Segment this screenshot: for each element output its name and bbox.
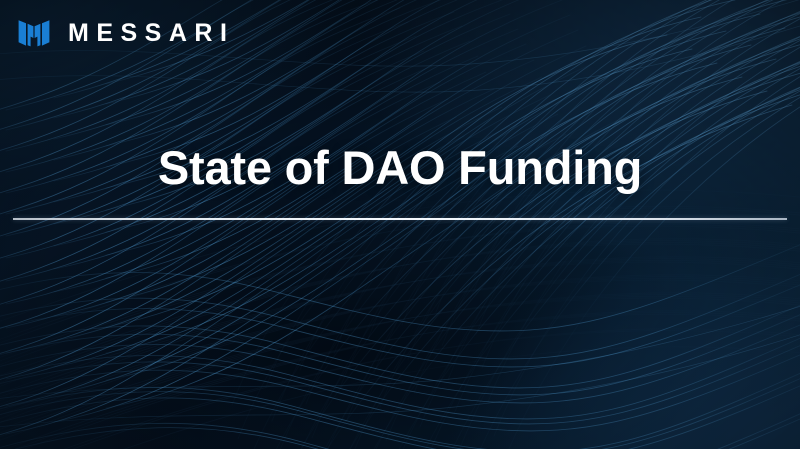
brand-header: MESSARI	[17, 16, 234, 50]
messari-wordmark: MESSARI	[68, 20, 234, 46]
messari-logo-mark-icon	[17, 16, 51, 50]
background-vignette	[0, 0, 800, 449]
page-title: State of DAO Funding	[0, 143, 800, 193]
title-slide: MESSARI State of DAO Funding	[0, 0, 800, 449]
title-divider-rule	[13, 218, 787, 220]
